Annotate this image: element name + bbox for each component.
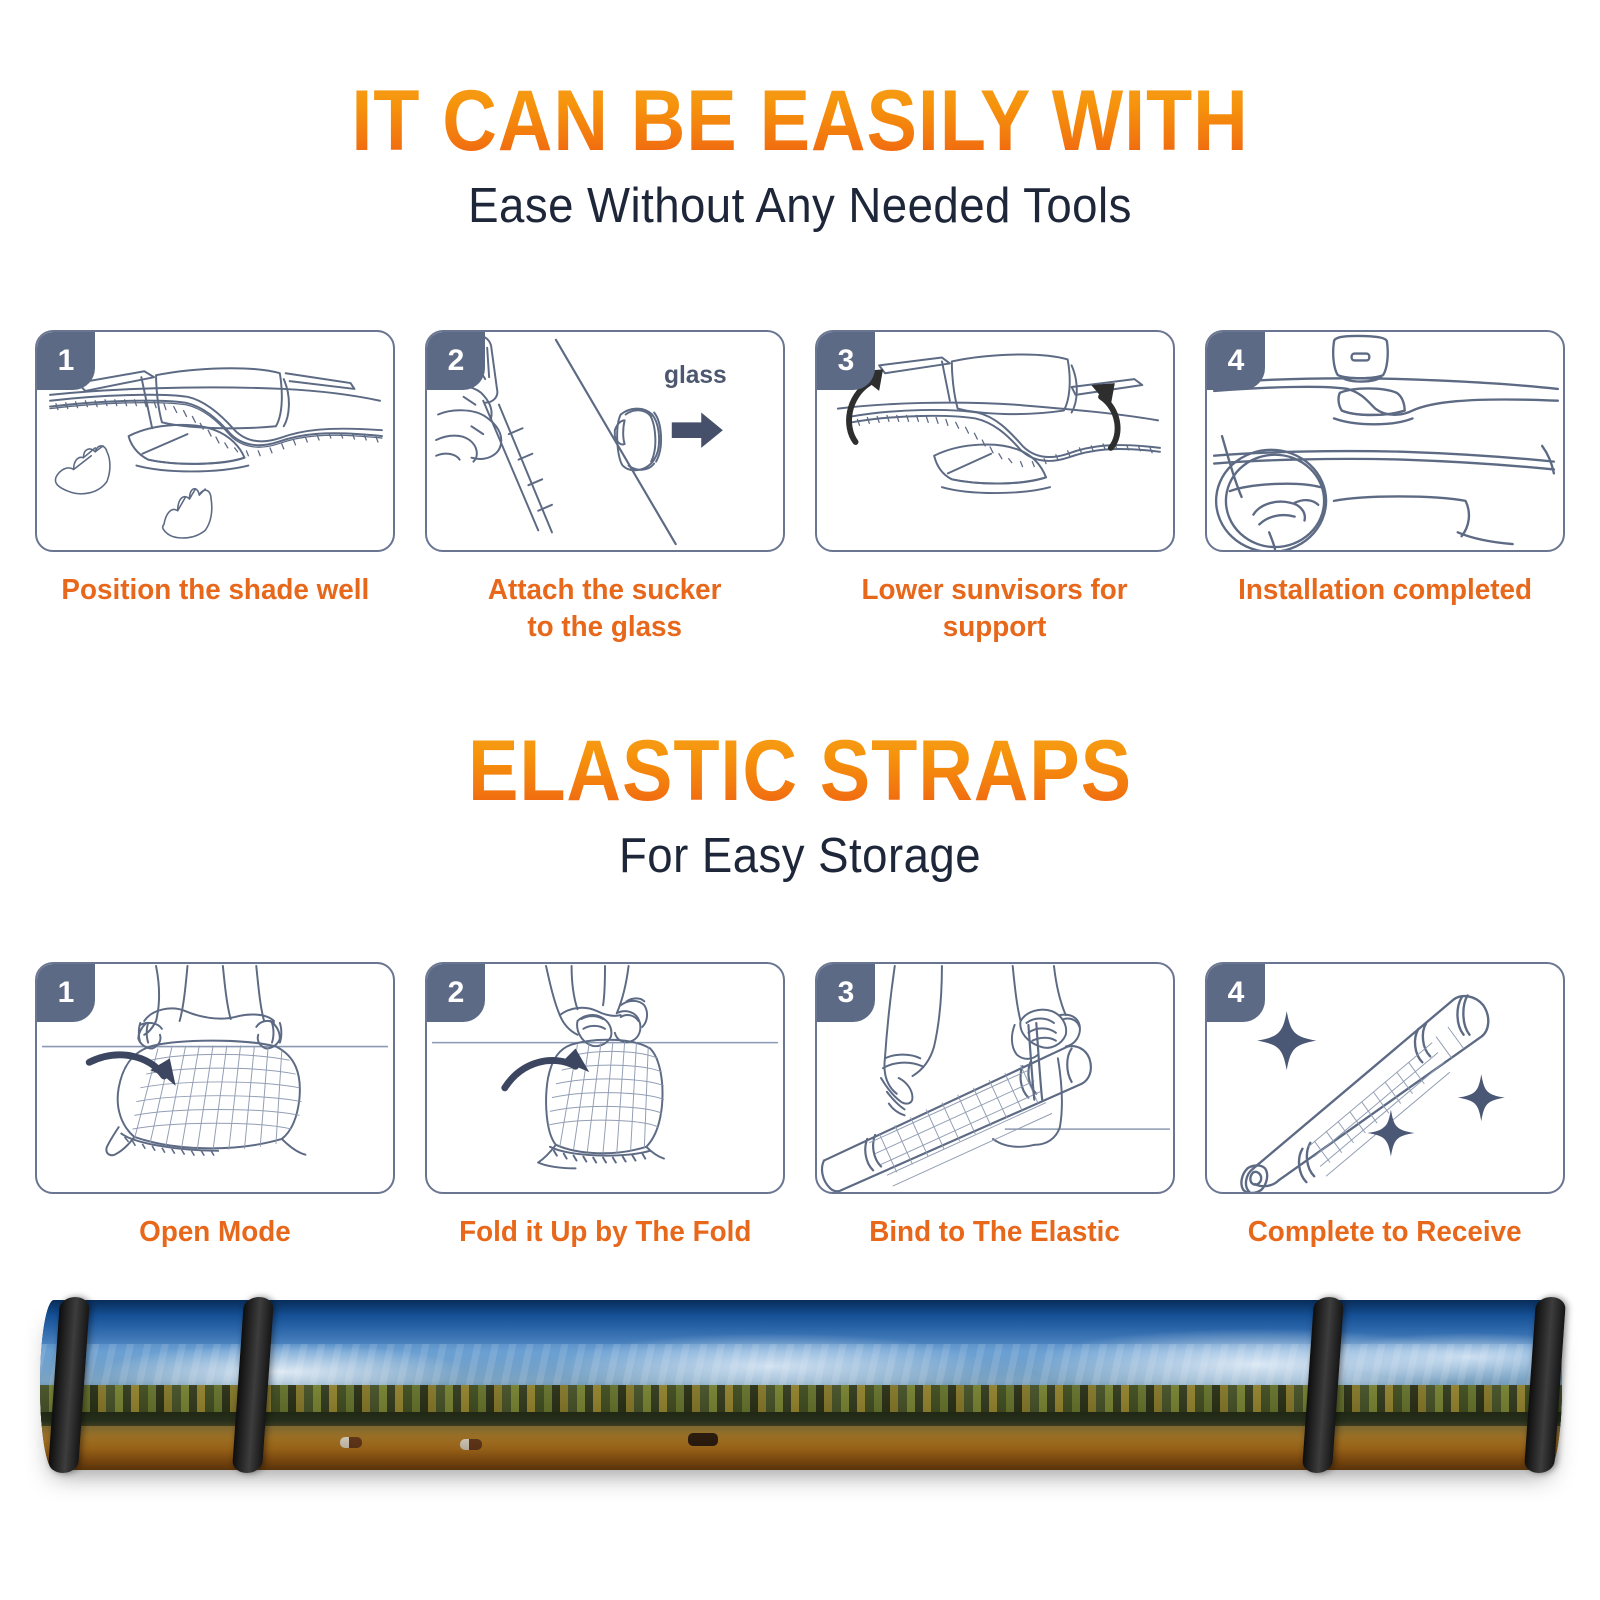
step-number-badge: 2	[427, 964, 485, 1022]
storage-step-4-panel: 4	[1205, 962, 1565, 1194]
glass-label: glass	[664, 362, 727, 389]
storage-step-4[interactable]: 4	[1205, 962, 1565, 1251]
rotate-arrow-right-icon	[1101, 397, 1118, 448]
storage-step-1-caption: Open Mode	[139, 1214, 291, 1251]
install-step-2[interactable]: 2 gl	[425, 330, 785, 646]
step-number-badge: 4	[1207, 964, 1265, 1022]
step-number-badge: 1	[37, 332, 95, 390]
install-step-4-panel: 4	[1205, 330, 1565, 552]
grazing-animal	[460, 1439, 482, 1450]
grazing-animal	[340, 1437, 362, 1448]
storage-step-2-panel: 2	[425, 962, 785, 1194]
section-2-heading-block: ELASTIC STRAPS For Easy Storage	[0, 728, 1600, 884]
sparkle-icon	[1257, 1011, 1316, 1070]
storage-step-3-caption: Bind to The Elastic	[870, 1214, 1121, 1251]
storage-step-3[interactable]: 3	[815, 962, 1175, 1251]
storage-steps-row: 1	[35, 962, 1565, 1251]
step-number-badge: 4	[1207, 332, 1265, 390]
install-step-2-caption: Attach the sucker to the glass	[488, 572, 722, 646]
sparkle-icon	[1367, 1109, 1414, 1156]
install-step-1[interactable]: 1	[35, 330, 395, 646]
install-step-3-caption: Lower sunvisors for support	[862, 572, 1128, 646]
install-step-3-panel: 3	[815, 330, 1175, 552]
storage-step-2[interactable]: 2	[425, 962, 785, 1251]
rotate-arrow-left-icon	[849, 383, 869, 442]
install-steps-row: 1	[35, 330, 1565, 646]
storage-step-2-caption: Fold it Up by The Fold	[459, 1214, 751, 1251]
grazing-animal	[688, 1433, 718, 1446]
rolled-sunshade-product-photo	[40, 1300, 1562, 1470]
install-step-2-panel: 2 gl	[425, 330, 785, 552]
install-step-1-panel: 1	[35, 330, 395, 552]
storage-step-4-caption: Complete to Receive	[1248, 1214, 1522, 1251]
storage-step-1-panel: 1	[35, 962, 395, 1194]
install-step-4-caption: Installation completed	[1238, 572, 1532, 609]
install-step-1-caption: Position the shade well	[61, 572, 369, 609]
section-2-title: ELASTIC STRAPS	[96, 728, 1504, 814]
sparkle-icon	[1458, 1074, 1505, 1121]
section-2-subtitle: For Easy Storage	[56, 828, 1544, 884]
right-arrow-icon	[672, 413, 723, 448]
step-number-badge: 2	[427, 332, 485, 390]
storage-step-1[interactable]: 1	[35, 962, 395, 1251]
install-step-4[interactable]: 4	[1205, 330, 1565, 646]
step-number-badge: 3	[817, 332, 875, 390]
section-1-heading-block: IT CAN BE EASILY WITH Ease Without Any N…	[0, 78, 1600, 234]
step-number-badge: 1	[37, 964, 95, 1022]
section-1-title: IT CAN BE EASILY WITH	[96, 78, 1504, 164]
step-number-badge: 3	[817, 964, 875, 1022]
section-1-subtitle: Ease Without Any Needed Tools	[56, 178, 1544, 234]
install-step-3[interactable]: 3	[815, 330, 1175, 646]
storage-step-3-panel: 3	[815, 962, 1175, 1194]
